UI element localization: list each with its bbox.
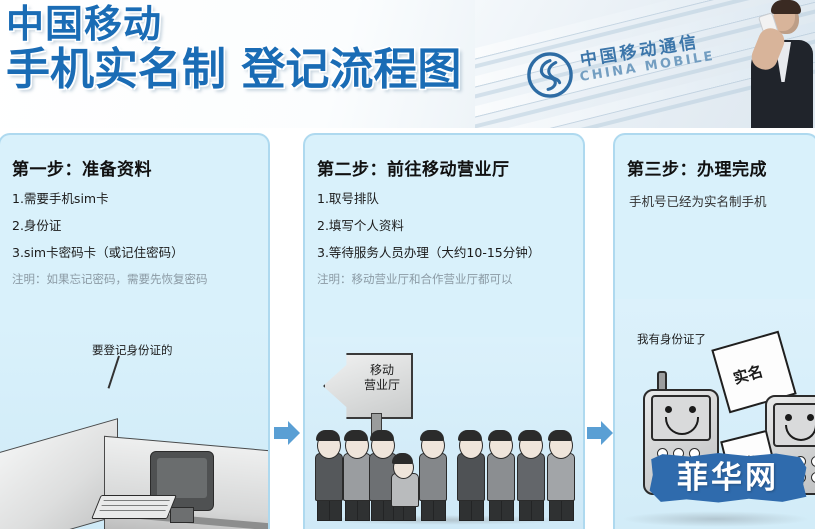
step-3-line-1: 手机号已经为实名制手机	[629, 191, 807, 210]
illustration-counter-registration: 要登记身份证的	[0, 324, 268, 529]
step-2-title: 第二步：前往移动营业厅	[317, 155, 573, 180]
arrow-step1-to-step2	[272, 418, 302, 448]
step-3-text: 第三步：办理完成 手机号已经为实名制手机	[615, 135, 815, 221]
china-mobile-building-photo: 中国移动通信 CHINA MOBILE	[475, 0, 815, 128]
illustration-queue-at-hall: 移动 营业厅	[305, 337, 583, 529]
step-1-title: 第一步：准备资料	[12, 155, 258, 180]
step-3-title: 第三步：办理完成	[627, 155, 807, 180]
step-1-line-1: 1.需要手机sim卡	[12, 191, 258, 207]
poster-title-block: 中国移动 手机实名制 登记流程图	[6, 2, 461, 96]
arrow-step2-to-step3	[585, 418, 615, 448]
step-2-note: 注明：移动营业厅和合作营业厅都可以	[317, 272, 573, 287]
step-2-line-2: 2.填写个人资料	[317, 218, 573, 234]
watermark: 菲华网	[648, 452, 808, 508]
sign-line-2: 营业厅	[351, 378, 413, 393]
step-1-line-2: 2.身份证	[12, 218, 258, 234]
step-1-note: 注明：如果忘记密码，需要先恢复密码	[12, 272, 258, 287]
step-1-text: 第一步：准备资料 1.需要手机sim卡 2.身份证 3.sim卡密码卡（或记住密…	[0, 135, 268, 287]
brand-line: 中国移动	[6, 2, 461, 46]
step-card-1: 第一步：准备资料 1.需要手机sim卡 2.身份证 3.sim卡密码卡（或记住密…	[0, 133, 270, 529]
step-1-line-3: 3.sim卡密码卡（或记住密码）	[12, 245, 258, 261]
speech-bubble-step3: 我有身份证了	[637, 331, 706, 347]
step-2-line-1: 1.取号排队	[317, 191, 573, 207]
sign-line-1: 移动	[351, 363, 413, 378]
step-card-2: 第二步：前往移动营业厅 1.取号排队 2.填写个人资料 3.等待服务人员办理（大…	[303, 133, 585, 529]
poster-header: 中国移动通信 CHINA MOBILE 中国移动 手机实名制 登记流程图	[0, 0, 815, 128]
watermark-text: 菲华网	[648, 460, 808, 496]
direction-sign-text: 移动 营业厅	[351, 363, 413, 393]
step-2-line-3: 3.等待服务人员办理（大约10-15分钟）	[317, 245, 573, 261]
step-2-text: 第二步：前往移动营业厅 1.取号排队 2.填写个人资料 3.等待服务人员办理（大…	[305, 135, 583, 287]
person-with-phone	[751, 0, 813, 128]
speech-bubble-step1: 要登记身份证的	[92, 342, 173, 358]
china-mobile-logo-icon	[527, 52, 573, 98]
page-title: 手机实名制 登记流程图	[6, 44, 461, 96]
flowchart-poster: 中国移动通信 CHINA MOBILE 中国移动 手机实名制 登记流程图 第一步…	[0, 0, 815, 529]
